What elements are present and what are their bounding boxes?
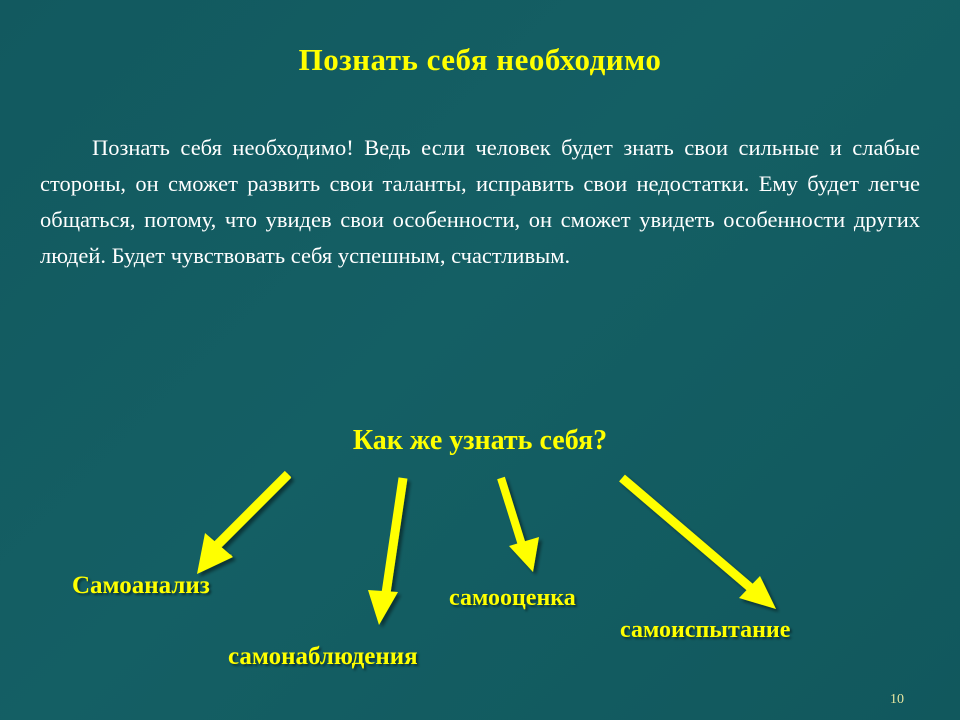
arrow-down-icon-2 <box>501 478 539 572</box>
body-paragraph: Познать себя необходимо! Ведь если челов… <box>40 130 920 274</box>
page-title: Познать себя необходимо <box>0 42 960 78</box>
arrow-down-icon-1 <box>368 478 403 625</box>
slide-canvas: Познать себя необходимо Познать себя нео… <box>0 0 960 720</box>
arrow-down-right-icon <box>622 478 776 609</box>
arrow-group <box>0 0 960 720</box>
term-self-testing: самоиспытание <box>620 617 790 644</box>
term-self-esteem: самооценка <box>449 585 576 612</box>
term-self-analysis: Самоанализ <box>72 572 210 600</box>
page-number: 10 <box>890 692 904 708</box>
term-self-observation: самонаблюдения <box>228 643 418 671</box>
arrow-down-left-icon <box>197 473 291 574</box>
question-heading: Как же узнать себя? <box>0 425 960 457</box>
body-text-block: Познать себя необходимо! Ведь если челов… <box>40 130 920 274</box>
